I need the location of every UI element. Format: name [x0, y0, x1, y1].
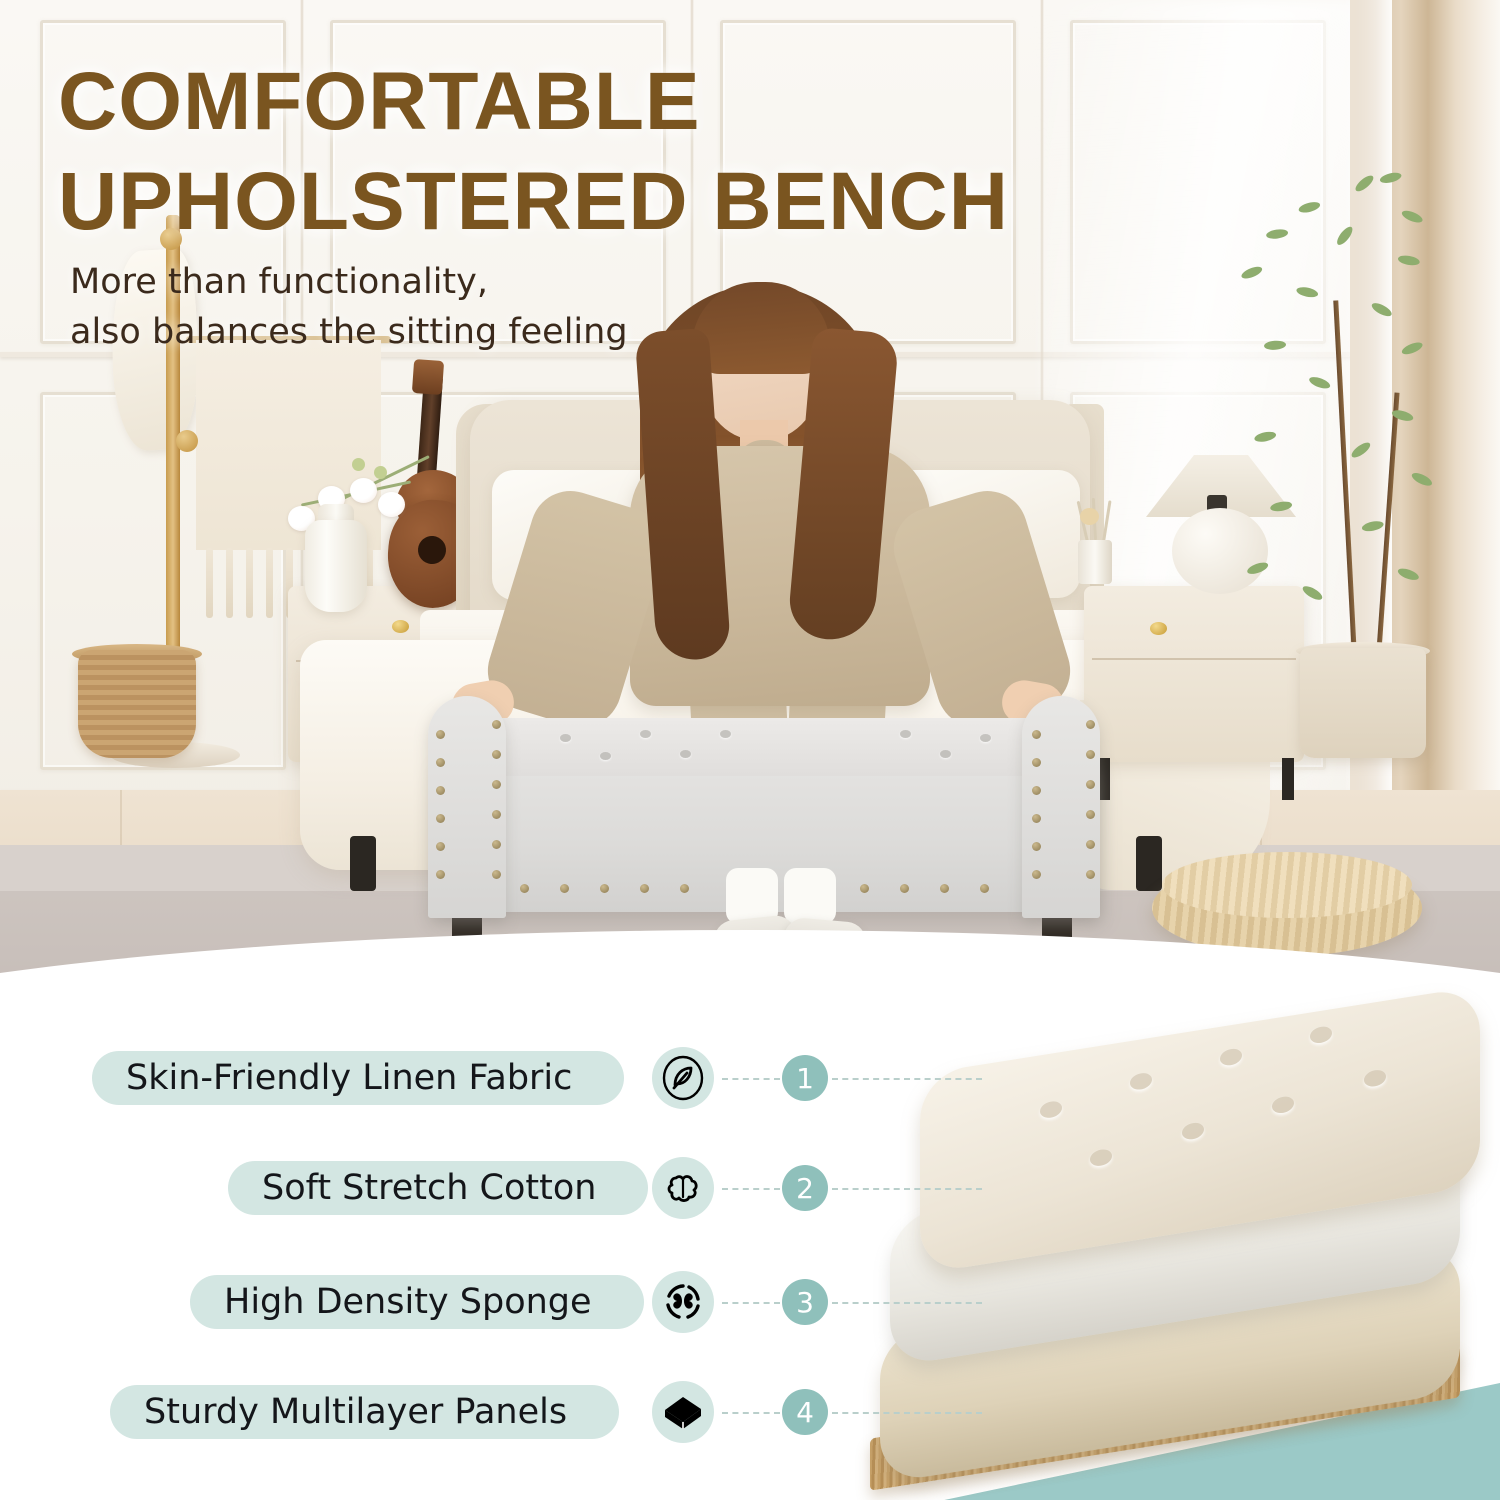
feature-number-1: 1	[782, 1055, 828, 1101]
feature-label-2[interactable]: Soft Stretch Cotton	[228, 1161, 648, 1215]
drawer-knob	[392, 620, 409, 633]
ukulele-headstock	[412, 359, 444, 395]
feature-number-2: 2	[782, 1165, 828, 1211]
reed-diffuser	[1078, 540, 1112, 584]
headline-line-1: COMFORTABLE	[58, 52, 1138, 152]
coat-rack-knob	[176, 430, 198, 452]
connector-line-4	[722, 1412, 780, 1414]
ceramic-vase	[305, 520, 367, 612]
connector-line-3	[722, 1302, 780, 1304]
exploded-layer-stack	[880, 1020, 1500, 1490]
feature-label-4[interactable]: Sturdy Multilayer Panels	[110, 1385, 619, 1439]
planter	[1300, 648, 1426, 758]
connector-line-1b	[832, 1078, 982, 1080]
nightstand-right	[1084, 586, 1304, 762]
sponge-four-petal-icon[interactable]	[652, 1271, 714, 1333]
drawer-knob	[1150, 622, 1167, 635]
panel-block-icon[interactable]	[652, 1381, 714, 1443]
model-sock	[784, 868, 836, 924]
feature-number-4: 4	[782, 1389, 828, 1435]
connector-line-2b	[832, 1188, 982, 1190]
connector-line-4b	[832, 1412, 982, 1414]
cotton-boll-icon[interactable]	[652, 1157, 714, 1219]
orchid-bloom	[350, 478, 377, 503]
page-title: COMFORTABLE UPHOLSTERED BENCH	[58, 52, 1138, 252]
connector-line-3b	[832, 1302, 982, 1304]
feature-number-3: 3	[782, 1279, 828, 1325]
orchid-bloom	[378, 492, 405, 517]
straw-pouf-top	[1162, 852, 1412, 918]
connector-line-2	[722, 1188, 780, 1190]
page-subtitle: More than functionality, also balances t…	[70, 258, 830, 357]
subtitle-line-2: also balances the sitting feeling	[70, 308, 830, 358]
subtitle-line-1: More than functionality,	[70, 258, 830, 308]
headline-line-2: UPHOLSTERED BENCH	[58, 152, 1138, 252]
feature-label-1[interactable]: Skin-Friendly Linen Fabric	[92, 1051, 624, 1105]
leaf-icon[interactable]	[652, 1047, 714, 1109]
lamp-base	[1172, 508, 1268, 594]
connector-line-1	[722, 1078, 780, 1080]
woven-basket	[78, 650, 196, 758]
bench-arm-right	[1022, 696, 1100, 918]
bench-tufted-lid	[448, 718, 1092, 776]
product-infographic: COMFORTABLE UPHOLSTERED BENCH More than …	[0, 0, 1500, 1500]
feature-label-3[interactable]: High Density Sponge	[190, 1275, 644, 1329]
